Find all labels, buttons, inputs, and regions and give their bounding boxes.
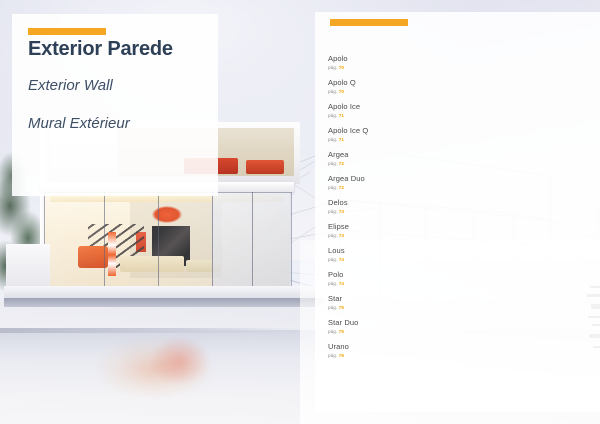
index-item[interactable]: Apolopág. 70 [328,54,568,72]
index-item-name: Apolo Q [328,78,568,88]
page-subtitle-en: Exterior Wall [28,77,113,94]
index-item-name: Delos [328,198,568,208]
index-item-page-ref: pág. 71 [328,136,568,144]
index-item[interactable]: Louspág. 74 [328,246,568,264]
page-number: 72 [339,161,344,166]
index-item[interactable]: Delospág. 73 [328,198,568,216]
glass-mullion [212,192,213,286]
index-item-name: Apolo Ice [328,102,568,112]
index-item-name: Polo [328,270,568,280]
pool-reflection-accent [150,336,210,386]
glass-mullion [252,192,253,286]
index-item[interactable]: Star Duopág. 75 [328,318,568,336]
product-index-list: Apolopág. 70Apolo Qpág. 70Apolo Icepág. … [328,54,568,366]
page-number: 71 [339,137,344,142]
page-title: Exterior Parede [28,38,173,61]
page-label: pág. [328,305,337,310]
house-side-wall [6,244,50,290]
page-label: pág. [328,89,337,94]
index-item-page-ref: pág. 74 [328,256,568,264]
glass-mullion [158,192,159,286]
title-accent-bar [28,28,106,35]
index-item-name: Star [328,294,568,304]
page-label: pág. [328,185,337,190]
glass-facade-frame [44,192,292,288]
glass-mullion [104,192,105,286]
index-item[interactable]: Starpág. 75 [328,294,568,312]
page-label: pág. [328,65,337,70]
index-item-name: Argea Duo [328,174,568,184]
index-panel: Apolopág. 70Apolo Qpág. 70Apolo Icepág. … [315,12,600,412]
index-item-name: Argea [328,150,568,160]
page-number: 72 [339,185,344,190]
page-number: 76 [339,353,344,358]
index-item[interactable]: Uranopág. 76 [328,342,568,360]
index-item-name: Apolo Ice Q [328,126,568,136]
index-item-name: Lous [328,246,568,256]
page-label: pág. [328,257,337,262]
index-item[interactable]: Apolo Ice Qpág. 71 [328,126,568,144]
index-item-page-ref: pág. 75 [328,328,568,336]
page-label: pág. [328,233,337,238]
catalog-page: Exterior Parede Exterior Wall Mural Exté… [0,0,600,424]
index-item-page-ref: pág. 70 [328,64,568,72]
index-item[interactable]: Argeapág. 72 [328,150,568,168]
page-label: pág. [328,113,337,118]
title-card: Exterior Parede Exterior Wall Mural Exté… [12,14,218,196]
page-number: 74 [339,257,344,262]
page-subtitle-fr: Mural Extérieur [28,115,130,132]
page-label: pág. [328,209,337,214]
index-item-name: Urano [328,342,568,352]
index-item-page-ref: pág. 76 [328,352,568,360]
index-item-page-ref: pág. 73 [328,208,568,216]
page-number: 70 [339,65,344,70]
index-item-page-ref: pág. 70 [328,88,568,96]
index-item-name: Elipse [328,222,568,232]
index-item-page-ref: pág. 74 [328,280,568,288]
page-number: 70 [339,89,344,94]
index-item-page-ref: pág. 71 [328,112,568,120]
index-item[interactable]: Elipsepág. 73 [328,222,568,240]
index-item-page-ref: pág. 73 [328,232,568,240]
upper-red-furniture-2 [246,160,284,174]
index-item-name: Star Duo [328,318,568,328]
deck-edge [4,298,324,307]
page-label: pág. [328,161,337,166]
page-number: 75 [339,305,344,310]
page-label: pág. [328,329,337,334]
page-number: 73 [339,209,344,214]
page-label: pág. [328,281,337,286]
index-item-page-ref: pág. 72 [328,160,568,168]
index-item[interactable]: Polopág. 74 [328,270,568,288]
page-label: pág. [328,353,337,358]
index-item[interactable]: Apolo Qpág. 70 [328,78,568,96]
page-label: pág. [328,137,337,142]
index-item-name: Apolo [328,54,568,64]
page-number: 75 [339,329,344,334]
index-item[interactable]: Apolo Icepág. 71 [328,102,568,120]
page-number: 74 [339,281,344,286]
index-item[interactable]: Argea Duopág. 72 [328,174,568,192]
page-number: 71 [339,113,344,118]
index-accent-bar [330,19,408,26]
page-number: 73 [339,233,344,238]
glass-house [34,180,296,330]
index-item-page-ref: pág. 72 [328,184,568,192]
index-item-page-ref: pág. 75 [328,304,568,312]
